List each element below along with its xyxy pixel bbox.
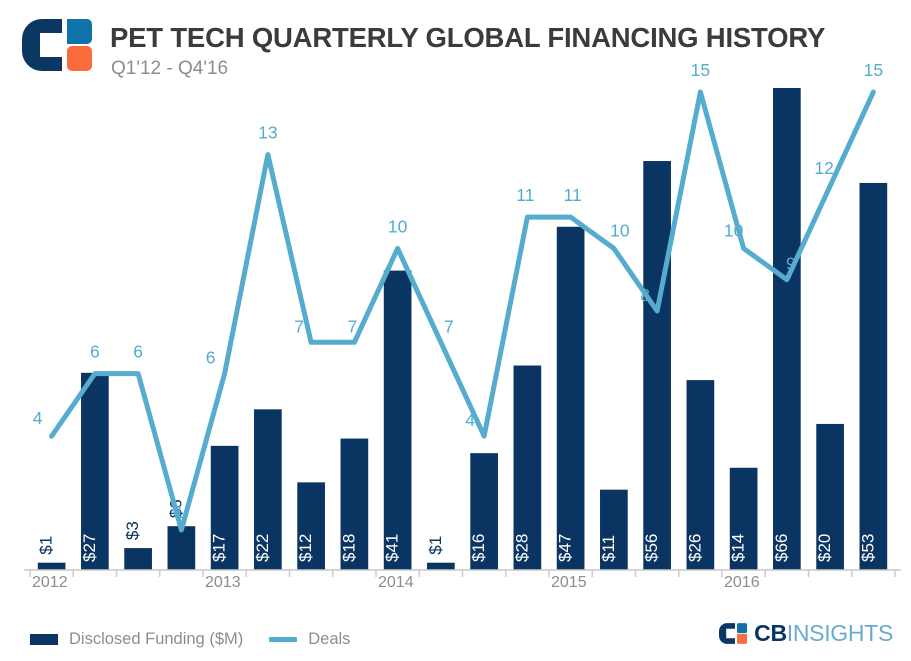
chart-canvas: $1$27$3$6$17$22$12$18$41$1$16$28$47$11$5… — [0, 0, 911, 612]
chart-plot-area: $1$27$3$6$17$22$12$18$41$1$16$28$47$11$5… — [0, 0, 911, 612]
deals-value-label: 6 — [90, 342, 100, 362]
deals-value-label: 6 — [133, 342, 143, 362]
legend-line-swatch — [269, 637, 297, 642]
legend-item[interactable]: Disclosed Funding ($M) — [30, 630, 243, 649]
bar-value-label: $56 — [642, 534, 661, 562]
bar-value-label: $41 — [383, 534, 402, 562]
bar-value-label: $22 — [253, 534, 272, 562]
bar-value-label: $11 — [599, 535, 618, 562]
bar-Q216 — [773, 88, 801, 570]
deals-value-label: 7 — [348, 316, 358, 336]
legend-bar-swatch — [30, 634, 58, 645]
deals-line — [52, 92, 874, 530]
deals-value-label: 13 — [258, 123, 277, 143]
deals-value-label: 1 — [175, 502, 185, 522]
brand-insights: INSIGHTS — [787, 620, 893, 646]
deals-value-label: 7 — [294, 316, 304, 336]
bar-value-label: $20 — [815, 534, 834, 562]
deals-value-label: 10 — [724, 220, 744, 240]
bar-value-label: $3 — [123, 521, 142, 540]
deals-value-label: 11 — [564, 185, 582, 205]
bar-value-label: $28 — [512, 534, 531, 562]
x-axis-year-label: 2014 — [378, 574, 414, 592]
deals-value-label: 15 — [691, 60, 710, 80]
bar-value-label: $12 — [296, 534, 315, 562]
deals-value-label: 7 — [444, 316, 454, 336]
bar-Q315 — [643, 161, 671, 570]
bar-value-label: $16 — [469, 534, 488, 562]
bar-Q114 — [384, 271, 412, 570]
x-axis-year-label: 2015 — [551, 574, 587, 592]
chart-legend: Disclosed Funding ($M)Deals — [30, 625, 376, 653]
bar-Q312 — [124, 548, 152, 570]
bar-value-label: $53 — [858, 534, 877, 562]
bar-Q416 — [860, 183, 888, 570]
bar-Q214 — [427, 563, 455, 570]
deals-value-label: 4 — [465, 410, 475, 430]
deals-value-label: 15 — [864, 60, 883, 80]
brand-cb: CB — [754, 620, 787, 646]
deals-value-label: 8 — [640, 285, 650, 305]
bar-value-label: $47 — [556, 534, 575, 562]
bar-value-label: $1 — [37, 536, 56, 555]
bar-value-label: $18 — [339, 534, 358, 562]
x-axis-year-label: 2013 — [205, 574, 241, 592]
legend-label: Disclosed Funding ($M) — [69, 630, 243, 649]
bar-value-label: $17 — [210, 534, 229, 562]
deals-value-label: 10 — [388, 216, 408, 236]
cb-insights-mark-icon — [719, 623, 747, 644]
legend-label: Deals — [308, 630, 350, 649]
bar-value-label: $26 — [685, 534, 704, 562]
bar-Q115 — [557, 227, 585, 570]
deals-value-label: 10 — [610, 220, 630, 240]
bar-Q112 — [38, 563, 66, 570]
deals-value-label: 4 — [33, 408, 43, 428]
chart-page: PET TECH QUARTERLY GLOBAL FINANCING HIST… — [0, 0, 911, 661]
bar-value-label: $27 — [80, 534, 99, 562]
deals-value-label: 12 — [814, 158, 833, 178]
cb-insights-footer-logo: CBINSIGHTS — [719, 620, 893, 647]
deals-value-label: 11 — [516, 185, 534, 205]
legend-item[interactable]: Deals — [269, 630, 350, 649]
x-axis-year-label: 2012 — [32, 574, 68, 592]
deals-value-label: 9 — [786, 254, 796, 274]
brand-wordmark: CBINSIGHTS — [754, 620, 893, 647]
bar-value-label: $66 — [772, 534, 791, 562]
bar-Q412 — [168, 526, 196, 570]
bar-value-label: $1 — [426, 536, 445, 555]
x-axis-labels: 20122013201420152016 — [0, 574, 911, 604]
x-axis-year-label: 2016 — [724, 574, 760, 592]
deals-value-label: 6 — [206, 348, 216, 368]
bar-value-label: $14 — [729, 534, 748, 562]
